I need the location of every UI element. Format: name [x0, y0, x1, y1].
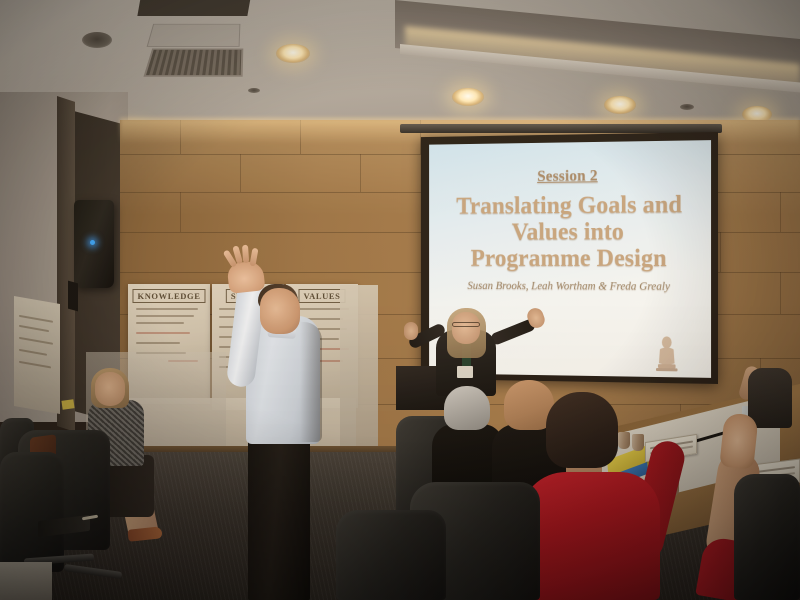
flipchart-values-header: VALUES	[299, 289, 346, 303]
slide-content: Session 2 Translating Goals and Values i…	[429, 166, 711, 293]
hvac-vent-icon	[143, 48, 243, 76]
speaker-power-led-icon	[90, 240, 95, 245]
ceiling-downlight-icon	[604, 96, 636, 114]
participant-raised-hand	[719, 412, 758, 469]
flipchart-sheet-right	[340, 285, 378, 460]
chair[interactable]	[0, 452, 64, 572]
flipchart-knowledge-header: KNOWLEDGE	[132, 289, 205, 303]
speaker-mount-bracket	[68, 281, 78, 312]
slide-title-line-1: Translating Goals and	[429, 191, 711, 220]
hvac-access-panel	[147, 24, 241, 47]
coffee-cup[interactable]	[632, 434, 644, 451]
coffee-cup[interactable]	[618, 432, 630, 449]
presenter-trousers	[248, 432, 310, 600]
chair[interactable]	[734, 474, 800, 600]
wall-sticky-note	[61, 399, 74, 410]
slide-title-line-3: Programme Design	[429, 245, 711, 272]
participant-head	[95, 372, 125, 406]
ceiling-sprinkler-icon	[248, 88, 260, 93]
participant-head	[444, 386, 490, 430]
participant-head	[546, 392, 618, 468]
ceiling-sprinkler-icon	[680, 104, 694, 110]
conference-room-photo: KNOWLEDGE SKILLS VALUES	[0, 0, 800, 600]
institute-emblem-icon	[654, 335, 679, 373]
slide-title: Translating Goals and Values into Progra…	[429, 191, 711, 272]
flipchart-sheet-left	[14, 296, 60, 414]
slide-session-label: Session 2	[429, 166, 711, 187]
slide-title-line-2: Values into	[429, 218, 711, 245]
speaker-left-hand	[404, 322, 418, 340]
ceiling-downlight-icon	[452, 88, 484, 106]
participant-far-right	[748, 368, 792, 428]
ceiling-recess-icon	[82, 32, 112, 48]
name-badge	[457, 366, 473, 378]
slide-presenters: Susan Brooks, Leah Wortham & Freda Greal…	[429, 280, 711, 293]
ceiling-duct	[137, 0, 252, 16]
chair[interactable]	[336, 510, 446, 600]
presenter-shirt-shading	[300, 322, 322, 442]
ceiling-downlight-icon	[276, 44, 310, 63]
speaker-head	[452, 312, 480, 344]
eyeglasses-icon	[452, 322, 480, 327]
side-table	[0, 562, 52, 600]
presenter-head	[260, 288, 300, 334]
screen-roller-case	[400, 124, 722, 133]
participant-red-top	[520, 472, 660, 600]
